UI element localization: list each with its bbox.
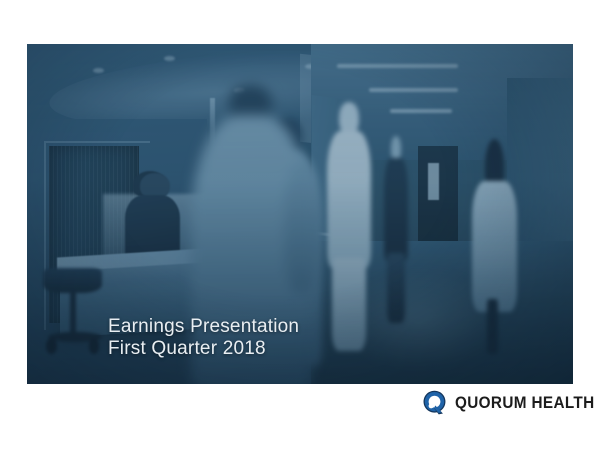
slide-root: Earnings Presentation First Quarter 2018… xyxy=(0,0,600,464)
page-title: Earnings Presentation First Quarter 2018 xyxy=(108,316,299,361)
title-line-1: Earnings Presentation xyxy=(108,316,299,338)
quorum-health-logo: QUORUM HEALTH xyxy=(421,389,600,416)
title-line-2: First Quarter 2018 xyxy=(108,338,299,360)
logo-wordmark: QUORUM HEALTH xyxy=(455,393,595,413)
quorum-q-mark-icon xyxy=(421,389,448,416)
